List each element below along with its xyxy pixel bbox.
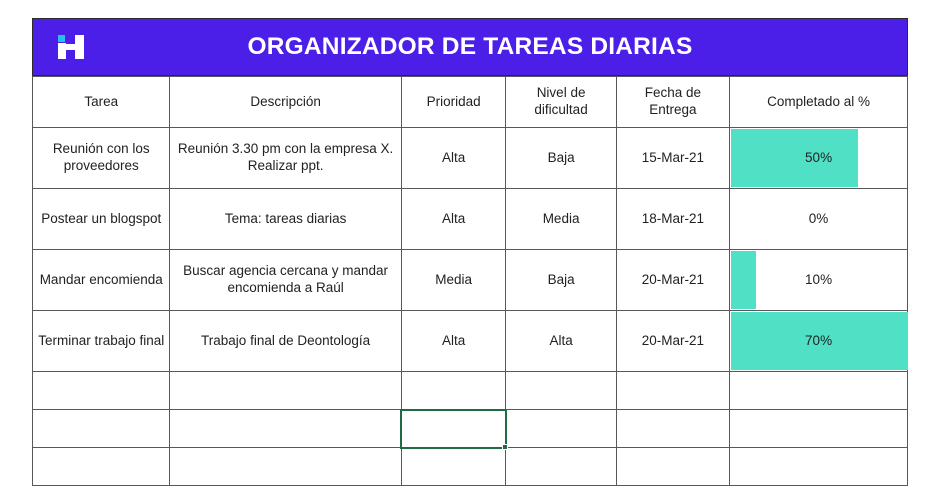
cell-tarea[interactable]: Postear un blogspot xyxy=(33,189,170,250)
column-header-descripcion[interactable]: Descripción xyxy=(170,77,401,128)
title-banner: ORGANIZADOR DE TAREAS DIARIAS xyxy=(32,18,908,76)
cell-prioridad[interactable]: Alta xyxy=(401,311,506,372)
cell-fecha-empty[interactable] xyxy=(616,372,729,410)
cell-fecha-empty[interactable] xyxy=(616,448,729,486)
cell-descripcion[interactable]: Tema: tareas diarias xyxy=(170,189,401,250)
table-body: Reunión con los proveedores Reunión 3.30… xyxy=(33,128,908,486)
cell-fecha[interactable]: 20-Mar-21 xyxy=(616,250,729,311)
table-row: Terminar trabajo final Trabajo final de … xyxy=(33,311,908,372)
cell-fecha[interactable]: 18-Mar-21 xyxy=(616,189,729,250)
cell-prioridad-selected[interactable] xyxy=(401,410,506,448)
cell-fecha-empty[interactable] xyxy=(616,410,729,448)
cell-completado-empty[interactable] xyxy=(730,372,908,410)
table-row: Postear un blogspot Tema: tareas diarias… xyxy=(33,189,908,250)
cell-tarea[interactable]: Mandar encomienda xyxy=(33,250,170,311)
cell-nivel-empty[interactable] xyxy=(506,372,616,410)
page-title: ORGANIZADOR DE TAREAS DIARIAS xyxy=(109,33,907,61)
fill-handle[interactable] xyxy=(502,444,508,450)
cell-prioridad[interactable]: Alta xyxy=(401,128,506,189)
cell-prioridad[interactable]: Alta xyxy=(401,189,506,250)
cell-descripcion-empty[interactable] xyxy=(170,372,401,410)
logo-accent-square xyxy=(58,35,65,42)
column-header-fecha[interactable]: Fecha de Entrega xyxy=(616,77,729,128)
cell-descripcion[interactable]: Buscar agencia cercana y mandar encomien… xyxy=(170,250,401,311)
completado-label: 0% xyxy=(734,191,903,247)
table-header-row: Tarea Descripción Prioridad Nivel de dif… xyxy=(33,77,908,128)
tasks-table: Tarea Descripción Prioridad Nivel de dif… xyxy=(32,76,908,486)
logo-container xyxy=(33,35,109,59)
cell-tarea[interactable]: Terminar trabajo final xyxy=(33,311,170,372)
table-row: Mandar encomienda Buscar agencia cercana… xyxy=(33,250,908,311)
cell-nivel-empty[interactable] xyxy=(506,448,616,486)
cell-descripcion[interactable]: Reunión 3.30 pm con la empresa X. Realiz… xyxy=(170,128,401,189)
cell-completado-empty[interactable] xyxy=(730,410,908,448)
completado-label: 50% xyxy=(734,130,903,186)
cell-fecha[interactable]: 15-Mar-21 xyxy=(616,128,729,189)
cell-prioridad-empty[interactable] xyxy=(401,372,506,410)
cell-completado-empty[interactable] xyxy=(730,448,908,486)
cell-descripcion-empty[interactable] xyxy=(170,410,401,448)
column-header-nivel[interactable]: Nivel de dificultad xyxy=(506,77,616,128)
table-row-empty xyxy=(33,372,908,410)
cell-prioridad-empty[interactable] xyxy=(401,448,506,486)
cell-descripcion[interactable]: Trabajo final de Deontología xyxy=(170,311,401,372)
completado-label: 70% xyxy=(734,313,903,369)
cell-nivel[interactable]: Baja xyxy=(506,128,616,189)
cell-nivel[interactable]: Media xyxy=(506,189,616,250)
column-header-prioridad[interactable]: Prioridad xyxy=(401,77,506,128)
cell-nivel-empty[interactable] xyxy=(506,410,616,448)
cell-tarea-empty[interactable] xyxy=(33,448,170,486)
h-logo-icon xyxy=(58,35,84,59)
cell-descripcion-empty[interactable] xyxy=(170,448,401,486)
cell-tarea-empty[interactable] xyxy=(33,372,170,410)
cell-prioridad[interactable]: Media xyxy=(401,250,506,311)
cell-tarea[interactable]: Reunión con los proveedores xyxy=(33,128,170,189)
cell-tarea-empty[interactable] xyxy=(33,410,170,448)
cell-fecha[interactable]: 20-Mar-21 xyxy=(616,311,729,372)
column-header-completado[interactable]: Completado al % xyxy=(730,77,908,128)
table-row-empty xyxy=(33,410,908,448)
table-row: Reunión con los proveedores Reunión 3.30… xyxy=(33,128,908,189)
table-row-empty xyxy=(33,448,908,486)
cell-completado[interactable]: 0% xyxy=(730,189,908,250)
logo-bar-right xyxy=(75,35,84,59)
cell-completado[interactable]: 70% xyxy=(730,311,908,372)
spreadsheet-sheet: ORGANIZADOR DE TAREAS DIARIAS Tarea Desc… xyxy=(32,18,908,486)
cell-nivel[interactable]: Alta xyxy=(506,311,616,372)
completado-label: 10% xyxy=(734,252,903,308)
cell-nivel[interactable]: Baja xyxy=(506,250,616,311)
cell-completado[interactable]: 10% xyxy=(730,250,908,311)
column-header-tarea[interactable]: Tarea xyxy=(33,77,170,128)
cell-completado[interactable]: 50% xyxy=(730,128,908,189)
